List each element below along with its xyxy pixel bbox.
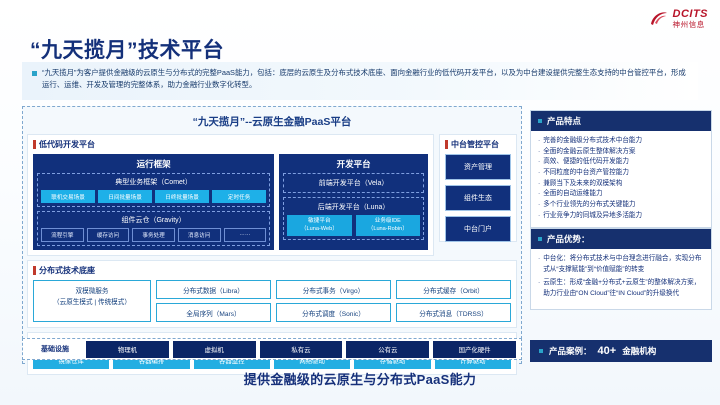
feature-item: ·行业竞争力的同城及异地多活能力 — [538, 211, 704, 222]
distributed-column: 分布式缓存（Orbit） 分布式消息（TDRSS） — [396, 280, 511, 322]
vela-item[interactable]: 前端开发平台（Vela） — [283, 173, 424, 193]
feature-item: ·完善的金融级分布式技术中台能力 — [538, 136, 704, 147]
dot-icon: · — [538, 136, 540, 147]
slide-root: DCITS 神州信息 “九天揽月”技术平台 “九天揽月”为客户提供金融级的云原生… — [0, 0, 720, 405]
bullet-square-icon — [32, 71, 37, 76]
advantages-body: ·中台化：将分布式技术与中台理念进行融合，实现分布式从“支撑赋能”到“价值赋能”… — [531, 249, 711, 309]
midplat-header: 中台管控平台 — [445, 139, 511, 150]
infrastructure-cell[interactable]: 私有云 — [260, 341, 343, 358]
luna-robin-line2: （Luna-Robin） — [357, 226, 419, 234]
feature-text: 行业竞争力的同城及异地多活能力 — [543, 211, 642, 222]
feature-text: 全面的金融云原生整体解决方案 — [543, 147, 635, 158]
feature-item: ·全面的自动运维能力 — [538, 189, 704, 200]
infrastructure-section: 基础设施 物理机 虚拟机 私有云 公有云 国产化硬件 — [22, 338, 522, 360]
platform-diagram: “九天揽月”--云原生金融PaaS平台 低代码开发平台 运行框架 典型业务框架（… — [22, 106, 522, 364]
advantage-text: 中台化：将分布式技术与中台理念进行融合，实现分布式从“支撑赋能”到“价值赋能”的… — [543, 254, 704, 275]
luna-label: 后端开发平台（Luna） — [287, 202, 420, 215]
gravity-group: 组件云仓（Gravity） 流程引擎 缓存访问 事务处理 消息访问 …… — [37, 211, 270, 246]
feature-item: ·高效、便捷的低代码开发能力 — [538, 157, 704, 168]
advantage-text: 云原生：形成“金融+分布式+云原生”的整体解决方案，助力行业由“ON Cloud… — [543, 278, 704, 299]
dot-icon: · — [538, 254, 540, 275]
luna-web-line1: 敏捷平台 — [288, 218, 350, 226]
case-suffix: 金融机构 — [622, 345, 656, 357]
feature-text: 完善的金融级分布式技术中台能力 — [543, 136, 642, 147]
feature-text: 兼顾当下及未来的双模架构 — [543, 179, 622, 190]
distributed-header: 分布式技术底座 — [33, 265, 511, 276]
feature-item: ·多个行业领先的分布式关键能力 — [538, 200, 704, 211]
comet-tag[interactable]: 日间批量场景 — [98, 190, 152, 203]
infrastructure-cell[interactable]: 国产化硬件 — [433, 341, 516, 358]
infrastructure-cell[interactable]: 虚拟机 — [173, 341, 256, 358]
distributed-cell[interactable]: 分布式事务（Virgo） — [276, 280, 391, 299]
distributed-cell[interactable]: 分布式调度（Sonic） — [276, 303, 391, 322]
luna-robin-line1: 业务级IDE — [357, 218, 419, 226]
bullet-square-icon — [538, 237, 542, 241]
dot-icon: · — [538, 157, 540, 168]
case-number: 40+ — [598, 345, 617, 357]
feature-text: 多个行业领先的分布式关键能力 — [543, 200, 635, 211]
advantage-item: ·中台化：将分布式技术与中台理念进行融合，实现分布式从“支撑赋能”到“价值赋能”… — [538, 254, 704, 275]
bottom-caption: 提供金融级的云原生与分布式PaaS能力 — [0, 369, 720, 388]
gravity-tag[interactable]: 事务处理 — [132, 228, 175, 242]
feature-item: ·兼顾当下及未来的双模架构 — [538, 179, 704, 190]
distributed-title: 分布式技术底座 — [39, 265, 95, 276]
dot-icon: · — [538, 147, 540, 158]
features-body: ·完善的金融级分布式技术中台能力 ·全面的金融云原生整体解决方案 ·高效、便捷的… — [531, 131, 711, 227]
distributed-cell[interactable]: 全局序列（Mars） — [156, 303, 271, 322]
advantage-item: ·云原生：形成“金融+分布式+云原生”的整体解决方案，助力行业由“ON Clou… — [538, 278, 704, 299]
distributed-column: 分布式事务（Virgo） 分布式调度（Sonic） — [276, 280, 391, 322]
infrastructure-cell[interactable]: 物理机 — [86, 341, 169, 358]
luna-web-item[interactable]: 敏捷平台 （Luna-Web） — [287, 215, 351, 236]
section-marker-icon — [445, 140, 448, 149]
comet-title: 典型业务框架（Comet） — [41, 177, 266, 190]
advantages-title: 产品优势： — [547, 233, 590, 245]
gravity-tag[interactable]: 缓存访问 — [87, 228, 130, 242]
distributed-cell[interactable]: 分布式数据（Libra） — [156, 280, 271, 299]
case-label: 产品案例： — [549, 345, 592, 357]
features-header: 产品特点 — [531, 111, 711, 131]
section-marker-icon — [33, 266, 36, 275]
comet-group: 典型业务框架（Comet） 联机交易场景 日间批量场景 日终批量场景 定时任务 — [37, 173, 270, 207]
midplat-item-asset[interactable]: 资产管理 — [445, 154, 511, 180]
intro-banner: “九天揽月”为客户提供金融级的云原生与分布式的完整PaaS能力，包括：底层的云原… — [22, 62, 698, 100]
devplat-title: 开发平台 — [279, 154, 428, 173]
feature-item: ·全面的金融云原生整体解决方案 — [538, 147, 704, 158]
page-title: “九天揽月”技术平台 — [30, 34, 224, 64]
comet-tag[interactable]: 定时任务 — [212, 190, 266, 203]
luna-robin-item[interactable]: 业务级IDE （Luna-Robin） — [356, 215, 420, 236]
intro-text: “九天揽月”为客户提供金融级的云原生与分布式的完整PaaS能力，包括：底层的云原… — [42, 67, 690, 100]
features-title: 产品特点 — [547, 115, 581, 127]
infrastructure-cell[interactable]: 公有云 — [346, 341, 429, 358]
vela-label: 前端开发平台（Vela） — [287, 178, 420, 188]
dot-icon: · — [538, 211, 540, 222]
distributed-column: 分布式数据（Libra） 全局序列（Mars） — [156, 280, 271, 322]
distributed-cell[interactable]: 分布式消息（TDRSS） — [396, 303, 511, 322]
infrastructure-label: 基础设施 — [28, 344, 82, 354]
case-panel: 产品案例： 40+ 金融机构 — [530, 340, 712, 362]
midplat-item-portal[interactable]: 中台门户 — [445, 216, 511, 242]
dot-icon: · — [538, 168, 540, 179]
midplat-item-component[interactable]: 组件生态 — [445, 185, 511, 211]
microservice-line1: 双模微服务 — [36, 287, 148, 298]
feature-item: ·不同粒度的中台资产管控能力 — [538, 168, 704, 179]
bullet-square-icon — [539, 349, 543, 353]
dot-icon: · — [538, 200, 540, 211]
gravity-tag[interactable]: 流程引擎 — [41, 228, 84, 242]
lowcode-title: 低代码开发平台 — [39, 139, 95, 150]
gravity-tag[interactable]: 消息访问 — [178, 228, 221, 242]
feature-text: 高效、便捷的低代码开发能力 — [543, 157, 629, 168]
distributed-base-section: 分布式技术底座 双模微服务 （云原生模式 | 传统模式） 分布式数据（Libra… — [27, 260, 517, 328]
luna-web-line2: （Luna-Web） — [288, 226, 350, 234]
runtime-title: 运行框架 — [33, 154, 274, 173]
dot-icon: · — [538, 189, 540, 200]
dot-icon: · — [538, 278, 540, 299]
runtime-framework-block: 运行框架 典型业务框架（Comet） 联机交易场景 日间批量场景 日终批量场景 … — [33, 154, 274, 250]
gravity-tag[interactable]: …… — [224, 228, 267, 242]
midplat-title: 中台管控平台 — [451, 139, 499, 150]
lowcode-header: 低代码开发平台 — [33, 139, 428, 150]
lowcode-platform-section: 低代码开发平台 运行框架 典型业务框架（Comet） 联机交易场景 日间批量场景… — [27, 134, 434, 256]
microservice-line2: （云原生模式 | 传统模式） — [36, 298, 148, 309]
advantages-panel: 产品优势： ·中台化：将分布式技术与中台理念进行融合，实现分布式从“支撑赋能”到… — [530, 228, 712, 310]
comet-tag[interactable]: 联机交易场景 — [41, 190, 95, 203]
dot-icon: · — [538, 179, 540, 190]
distributed-cell[interactable]: 分布式缓存（Orbit） — [396, 280, 511, 299]
features-panel: 产品特点 ·完善的金融级分布式技术中台能力 ·全面的金融云原生整体解决方案 ·高… — [530, 110, 712, 228]
dual-microservice-item[interactable]: 双模微服务 （云原生模式 | 传统模式） — [33, 280, 151, 322]
feature-text: 全面的自动运维能力 — [543, 189, 602, 200]
logo-text-cn: 神州信息 — [673, 21, 709, 29]
feature-text: 不同粒度的中台资产管控能力 — [543, 168, 629, 179]
logo-text-en: DCITS — [673, 9, 709, 20]
diagram-title: “九天揽月”--云原生金融PaaS平台 — [27, 111, 517, 134]
midplatform-section: 中台管控平台 资产管理 组件生态 中台门户 — [439, 134, 517, 242]
company-logo: DCITS 神州信息 — [649, 9, 709, 29]
advantages-header: 产品优势： — [531, 229, 711, 249]
dcits-logo-icon — [649, 10, 669, 28]
dev-platform-block: 开发平台 前端开发平台（Vela） 后端开发平台（Luna） 敏捷平台 （Lun… — [279, 154, 428, 250]
section-marker-icon — [33, 140, 36, 149]
bullet-square-icon — [538, 119, 542, 123]
comet-tag[interactable]: 日终批量场景 — [155, 190, 209, 203]
luna-group: 后端开发平台（Luna） 敏捷平台 （Luna-Web） 业务级IDE （Lun… — [283, 197, 424, 240]
gravity-title: 组件云仓（Gravity） — [41, 215, 266, 228]
